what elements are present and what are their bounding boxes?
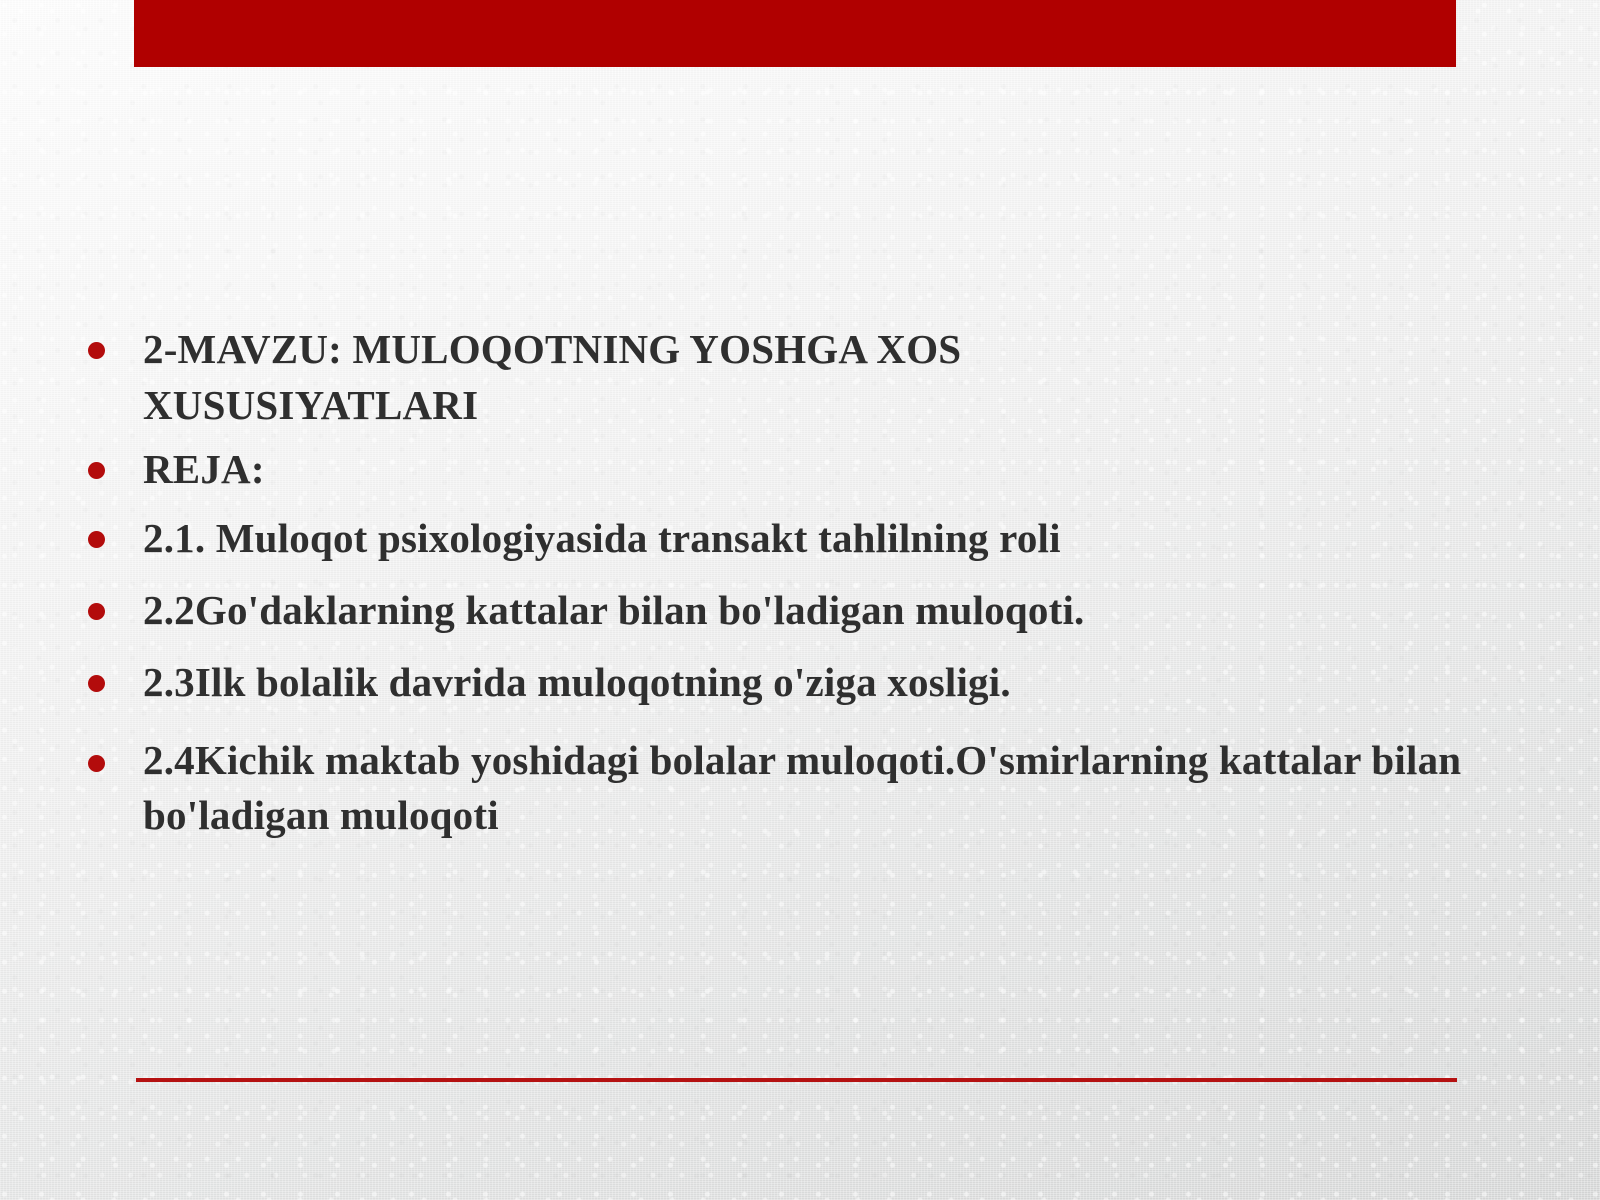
list-item: 2.4Kichik maktab yoshidagi bolalar muloq… xyxy=(88,733,1488,845)
list-item: 2.2Go'daklarning kattalar bilan bo'ladig… xyxy=(88,583,1488,639)
bullet-dot-icon xyxy=(88,531,105,548)
bullet-text: 2.4Kichik maktab yoshidagi bolalar muloq… xyxy=(143,733,1473,845)
bullet-text: 2.1. Muloqot psixologiyasida transakt ta… xyxy=(143,511,1488,567)
bullet-text: 2.2Go'daklarning kattalar bilan bo'ladig… xyxy=(143,583,1488,639)
bullet-text: 2.3Ilk bolalik davrida muloqotning o'zig… xyxy=(143,655,1488,711)
list-item: 2-MAVZU: MULOQOTNING YOSHGA XOS XUSUSIYA… xyxy=(88,322,1488,434)
bullet-dot-icon xyxy=(88,755,105,772)
slide-body-content: 2-MAVZU: MULOQOTNING YOSHGA XOS XUSUSIYA… xyxy=(88,322,1488,858)
bottom-red-rule xyxy=(136,1078,1457,1082)
bullet-text: REJA: xyxy=(143,442,1488,498)
top-red-banner xyxy=(134,0,1456,67)
bullet-dot-icon xyxy=(88,675,105,692)
list-item: REJA: xyxy=(88,442,1488,498)
bullet-text: 2-MAVZU: MULOQOTNING YOSHGA XOS XUSUSIYA… xyxy=(143,322,1203,434)
bullet-dot-icon xyxy=(88,462,105,479)
bullet-dot-icon xyxy=(88,603,105,620)
list-item: 2.3Ilk bolalik davrida muloqotning o'zig… xyxy=(88,655,1488,711)
list-item: 2.1. Muloqot psixologiyasida transakt ta… xyxy=(88,511,1488,567)
presentation-slide: 2-MAVZU: MULOQOTNING YOSHGA XOS XUSUSIYA… xyxy=(0,0,1600,1200)
bullet-dot-icon xyxy=(88,342,105,359)
